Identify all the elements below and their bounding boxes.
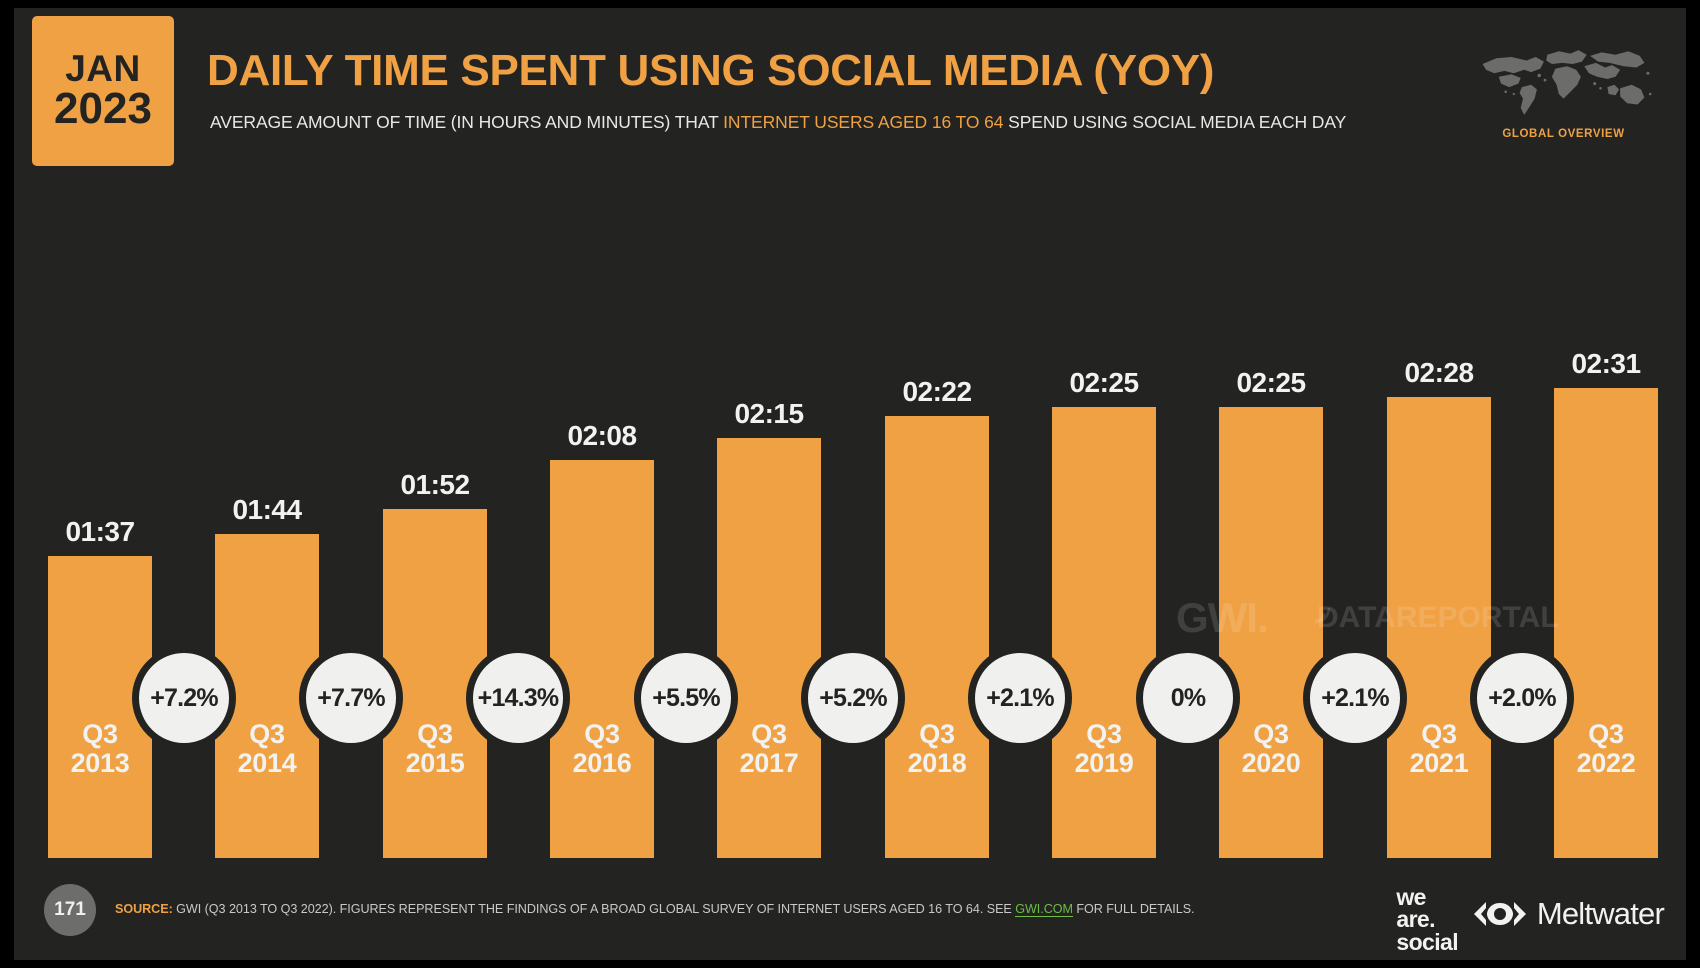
bar-column: 02:25: [1052, 328, 1156, 858]
category-year: 2020: [1197, 749, 1345, 778]
bar[interactable]: [1219, 407, 1323, 858]
yoy-change-bubble: 0%: [1136, 646, 1240, 750]
yoy-change-bubble: +7.2%: [132, 646, 236, 750]
category-year: 2015: [361, 749, 509, 778]
date-badge-month: JAN: [65, 50, 141, 88]
subtitle-pre: AVERAGE AMOUNT OF TIME (IN HOURS AND MIN…: [210, 112, 723, 132]
subtitle-post: SPEND USING SOCIAL MEDIA EACH DAY: [1003, 112, 1346, 132]
yoy-change-bubble: +7.7%: [299, 646, 403, 750]
bar-value-label: 02:22: [863, 376, 1011, 408]
world-map-icon: [1471, 38, 1656, 120]
source-text-post: FOR FULL DETAILS.: [1073, 902, 1195, 916]
wearesocial-line2: are.: [1396, 908, 1458, 930]
yoy-change-bubble: +14.3%: [466, 646, 570, 750]
footer: 171 SOURCE: GWI (Q3 2013 TO Q3 2022). FI…: [14, 860, 1686, 960]
bar-column: 01:37: [48, 328, 152, 858]
bar[interactable]: [717, 438, 821, 858]
date-badge: JAN 2023: [32, 16, 174, 166]
bar-value-label: 02:08: [528, 420, 676, 452]
yoy-change-bubble: +2.0%: [1470, 646, 1574, 750]
we-are-social-logo: we are. social: [1396, 886, 1458, 953]
page-title: DAILY TIME SPENT USING SOCIAL MEDIA (YOY…: [207, 46, 1214, 96]
bar-value-label: 01:52: [361, 469, 509, 501]
meltwater-logo: Meltwater: [1472, 896, 1664, 932]
yoy-change-bubble: +5.5%: [634, 646, 738, 750]
bar-value-label: 01:37: [26, 516, 174, 548]
bar-chart: 01:37Q3201301:44Q3201401:52Q3201502:08Q3…: [14, 178, 1686, 858]
yoy-change-bubble: +2.1%: [1303, 646, 1407, 750]
global-overview-label: GLOBAL OVERVIEW: [1471, 128, 1656, 140]
yoy-change-bubble: +2.1%: [968, 646, 1072, 750]
category-year: 2017: [695, 749, 843, 778]
chart-plot-area: 01:37Q3201301:44Q3201401:52Q3201502:08Q3…: [48, 178, 1658, 858]
bar[interactable]: [550, 460, 654, 858]
bar-column: 02:15: [717, 328, 821, 858]
meltwater-wordmark: Meltwater: [1537, 896, 1664, 932]
subtitle-highlight: INTERNET USERS AGED 16 TO 64: [723, 112, 1003, 132]
wearesocial-line3: social: [1396, 931, 1458, 953]
bar-value-label: 02:25: [1197, 367, 1345, 399]
bar[interactable]: [1387, 397, 1491, 858]
bar-value-label: 01:44: [193, 494, 341, 526]
category-year: 2016: [528, 749, 676, 778]
category-year: 2021: [1365, 749, 1513, 778]
bar-value-label: 02:25: [1030, 367, 1178, 399]
bar-column: 02:08: [550, 328, 654, 858]
bar-column: 01:52: [383, 328, 487, 858]
date-badge-year: 2023: [54, 87, 152, 132]
yoy-change-bubble: +5.2%: [801, 646, 905, 750]
wearesocial-line1: we: [1396, 886, 1458, 908]
bar[interactable]: [885, 416, 989, 858]
bar-value-label: 02:31: [1532, 348, 1680, 380]
category-year: 2014: [193, 749, 341, 778]
source-link[interactable]: GWI.COM: [1015, 902, 1073, 917]
bar-column: 02:22: [885, 328, 989, 858]
category-year: 2013: [26, 749, 174, 778]
bar-value-label: 02:28: [1365, 357, 1513, 389]
bar-column: 02:31: [1554, 328, 1658, 858]
datareportal-icon: [1308, 601, 1336, 629]
meltwater-eye-icon: [1472, 899, 1528, 929]
bar-column: 02:28: [1387, 328, 1491, 858]
page-subtitle: AVERAGE AMOUNT OF TIME (IN HOURS AND MIN…: [210, 112, 1346, 133]
source-label: SOURCE:: [115, 902, 173, 916]
source-text-pre: GWI (Q3 2013 TO Q3 2022). FIGURES REPRES…: [173, 902, 1015, 916]
source-note: SOURCE: GWI (Q3 2013 TO Q3 2022). FIGURE…: [115, 902, 1195, 916]
bar-value-label: 02:15: [695, 398, 843, 430]
infographic-slide: JAN 2023 DAILY TIME SPENT USING SOCIAL M…: [14, 8, 1686, 960]
bar[interactable]: [1554, 388, 1658, 858]
bar[interactable]: [1052, 407, 1156, 858]
bar-column: 02:25: [1219, 328, 1323, 858]
bar-column: 01:44: [215, 328, 319, 858]
category-year: 2018: [863, 749, 1011, 778]
global-overview-badge: GLOBAL OVERVIEW: [1471, 38, 1656, 150]
category-year: 2022: [1532, 749, 1680, 778]
category-year: 2019: [1030, 749, 1178, 778]
page-number: 171: [44, 884, 96, 936]
